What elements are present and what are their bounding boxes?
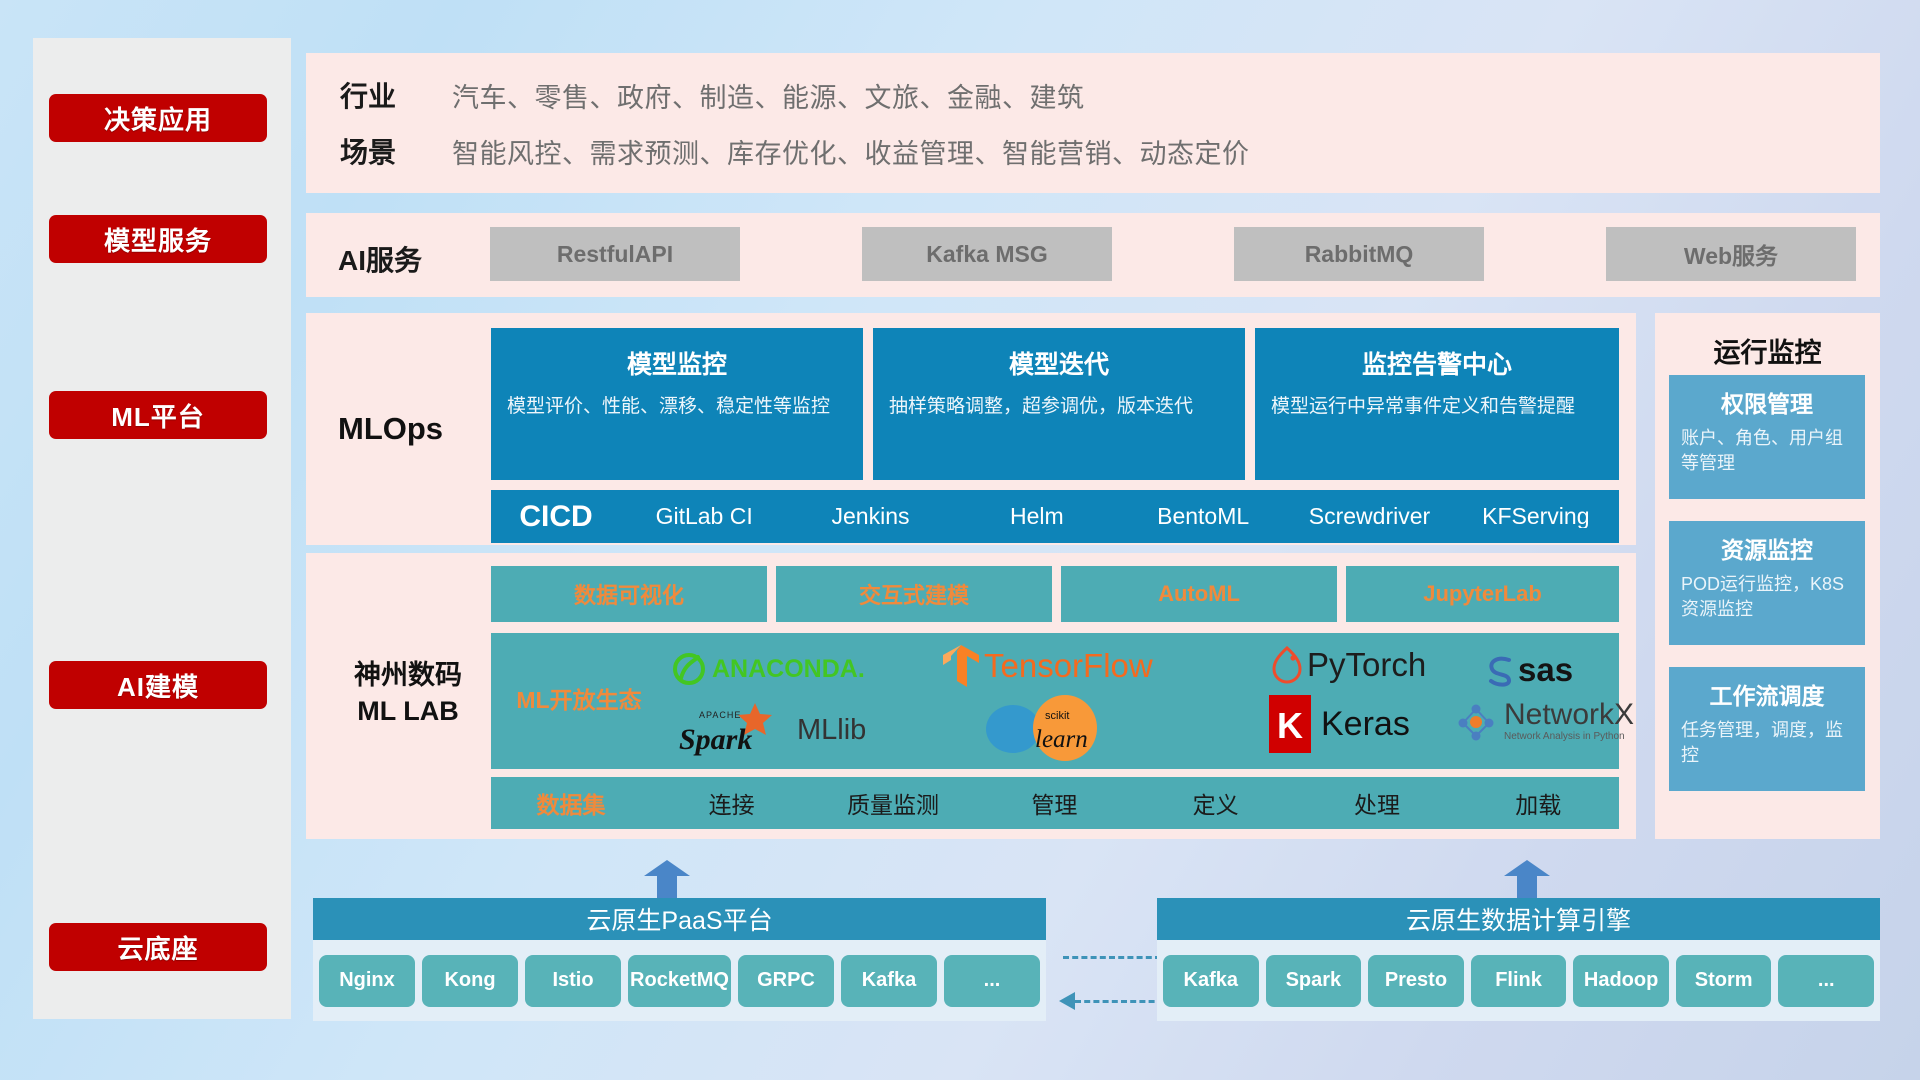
industry-row: 行业 汽车、零售、政府、制造、能源、文旅、金融、建筑 bbox=[340, 75, 1085, 115]
card-desc: 任务管理，调度，监控 bbox=[1681, 718, 1853, 768]
tool-chip-jupyterlab[interactable]: JupyterLab bbox=[1346, 566, 1619, 622]
paas-chip-istio[interactable]: Istio bbox=[525, 955, 621, 1007]
data-engine-title: 云原生数据计算引擎 bbox=[1157, 898, 1880, 940]
scenario-key: 场景 bbox=[340, 131, 452, 171]
svg-text:Spark: Spark bbox=[679, 723, 752, 756]
engine-chip-spark[interactable]: Spark bbox=[1266, 955, 1362, 1007]
logo-text: PyTorch bbox=[1307, 646, 1426, 684]
ml-ecosystem-label: ML开放生态 bbox=[505, 681, 653, 715]
cicd-label: CICD bbox=[491, 500, 621, 534]
monitoring-title: 运行监控 bbox=[1655, 313, 1880, 370]
chip-label: 数据可视化 bbox=[574, 578, 684, 610]
dataset-item-definition[interactable]: 定义 bbox=[1135, 786, 1296, 820]
svg-text:K: K bbox=[1277, 705, 1303, 746]
tensorflow-icon bbox=[941, 643, 981, 689]
card-title: 模型迭代 bbox=[873, 345, 1245, 381]
tool-chip-data-visualization[interactable]: 数据可视化 bbox=[491, 566, 767, 622]
connector-right-line bbox=[1063, 956, 1161, 959]
chip-label: Kafka MSG bbox=[926, 241, 1047, 268]
card-title: 模型监控 bbox=[491, 345, 863, 381]
card-title: 权限管理 bbox=[1669, 375, 1865, 419]
cicd-item-bentoml[interactable]: BentoML bbox=[1120, 505, 1286, 528]
logo-text: NetworkX bbox=[1504, 700, 1634, 730]
svg-text:APACHE: APACHE bbox=[699, 710, 741, 720]
chip-label: Web服务 bbox=[1684, 237, 1778, 271]
mlops-key: MLOps bbox=[338, 411, 443, 447]
monitoring-card-workflow[interactable]: 工作流调度 任务管理，调度，监控 bbox=[1669, 667, 1865, 791]
tool-chip-automl[interactable]: AutoML bbox=[1061, 566, 1337, 622]
sas-icon bbox=[1483, 653, 1517, 687]
anaconda-icon bbox=[671, 651, 707, 687]
ai-modeling-panel: 神州数码 ML LAB 数据可视化 交互式建模 AutoML JupyterLa… bbox=[306, 553, 1636, 839]
runtime-monitoring-panel: 运行监控 权限管理 账户、角色、用户组等管理 资源监控 POD运行监控，K8S资… bbox=[1655, 313, 1880, 839]
svg-text:scikit: scikit bbox=[1045, 710, 1069, 722]
logo-text: ANACONDA. bbox=[712, 655, 865, 684]
ml-lab-line1: 神州数码 bbox=[328, 657, 488, 693]
scenario-value: 智能风控、需求预测、库存优化、收益管理、智能营销、动态定价 bbox=[452, 132, 1250, 171]
card-desc: 模型评价、性能、漂移、稳定性等监控 bbox=[507, 393, 847, 421]
ai-service-chip-kafka-msg[interactable]: Kafka MSG bbox=[862, 227, 1112, 281]
chip-label: JupyterLab bbox=[1423, 581, 1542, 607]
paas-chip-more[interactable]: ... bbox=[944, 955, 1040, 1007]
engine-chip-storm[interactable]: Storm bbox=[1676, 955, 1772, 1007]
dataset-strip: 数据集 连接 质量监测 管理 定义 处理 加载 bbox=[491, 777, 1619, 829]
logo-text: sas bbox=[1518, 651, 1573, 689]
engine-chip-presto[interactable]: Presto bbox=[1368, 955, 1464, 1007]
cicd-item-helm[interactable]: Helm bbox=[954, 505, 1120, 528]
chip-label: 交互式建模 bbox=[859, 578, 969, 610]
scenario-row: 场景 智能风控、需求预测、库存优化、收益管理、智能营销、动态定价 bbox=[340, 131, 1250, 171]
dataset-item-connect[interactable]: 连接 bbox=[651, 786, 812, 820]
dataset-item-processing[interactable]: 处理 bbox=[1296, 786, 1457, 820]
layer-chip-label: ML平台 bbox=[111, 397, 205, 434]
ml-lab-key: 神州数码 ML LAB bbox=[328, 657, 488, 730]
networkx-icon bbox=[1453, 699, 1499, 745]
layer-chip-label: AI建模 bbox=[117, 667, 199, 704]
scikit-learn-icon: scikit learn bbox=[983, 695, 1133, 761]
svg-text:learn: learn bbox=[1035, 726, 1088, 753]
industry-value: 汽车、零售、政府、制造、能源、文旅、金融、建筑 bbox=[452, 76, 1085, 115]
paas-chip-row: Nginx Kong Istio RocketMQ GRPC Kafka ... bbox=[313, 940, 1046, 1021]
ai-service-chip-web-service[interactable]: Web服务 bbox=[1606, 227, 1856, 281]
cicd-item-screwdriver[interactable]: Screwdriver bbox=[1286, 505, 1452, 528]
layer-chip-label: 模型服务 bbox=[104, 221, 212, 258]
ml-ecosystem-box: ML开放生态 ANACONDA. TensorFlow bbox=[491, 633, 1619, 769]
paas-chip-kafka[interactable]: Kafka bbox=[841, 955, 937, 1007]
dataset-item-management[interactable]: 管理 bbox=[974, 786, 1135, 820]
paas-chip-grpc[interactable]: GRPC bbox=[738, 955, 834, 1007]
diagram-canvas: 决策应用 模型服务 ML平台 AI建模 云底座 行业 汽车、零售、政府、制造、能… bbox=[0, 0, 1920, 1080]
logo-text: Keras bbox=[1321, 705, 1410, 744]
paas-chip-nginx[interactable]: Nginx bbox=[319, 955, 415, 1007]
dataset-item-quality[interactable]: 质量监测 bbox=[812, 786, 973, 820]
layer-rail bbox=[33, 38, 291, 1019]
industry-key: 行业 bbox=[340, 75, 452, 115]
mlops-card-alert-center[interactable]: 监控告警中心 模型运行中异常事件定义和告警提醒 bbox=[1255, 328, 1619, 480]
anaconda-logo[interactable]: ANACONDA. bbox=[671, 651, 865, 687]
tool-chip-interactive-modeling[interactable]: 交互式建模 bbox=[776, 566, 1052, 622]
monitoring-card-permission[interactable]: 权限管理 账户、角色、用户组等管理 bbox=[1669, 375, 1865, 499]
sas-logo[interactable]: sas bbox=[1483, 651, 1573, 689]
data-engine-chip-row: Kafka Spark Presto Flink Hadoop Storm ..… bbox=[1157, 940, 1880, 1021]
pytorch-icon bbox=[1271, 645, 1303, 685]
card-desc: 模型运行中异常事件定义和告警提醒 bbox=[1271, 393, 1603, 421]
paas-platform-block: 云原生PaaS平台 Nginx Kong Istio RocketMQ GRPC… bbox=[313, 898, 1046, 1021]
ecosystem-logo-grid: ANACONDA. TensorFlow PyTorch bbox=[663, 637, 1613, 765]
engine-chip-hadoop[interactable]: Hadoop bbox=[1573, 955, 1669, 1007]
engine-chip-kafka[interactable]: Kafka bbox=[1163, 955, 1259, 1007]
chip-label: RabbitMQ bbox=[1305, 241, 1414, 268]
arrow-up-data-engine bbox=[1504, 860, 1550, 900]
monitoring-card-resource[interactable]: 资源监控 POD运行监控，K8S资源监控 bbox=[1669, 521, 1865, 645]
layer-chip-model-service[interactable]: 模型服务 bbox=[49, 215, 267, 263]
arrow-up-paas bbox=[644, 860, 690, 900]
layer-chip-decision-app[interactable]: 决策应用 bbox=[49, 94, 267, 142]
mlops-card-model-monitoring[interactable]: 模型监控 模型评价、性能、漂移、稳定性等监控 bbox=[491, 328, 863, 480]
spark-icon: APACHE Spark bbox=[675, 703, 791, 757]
layer-chip-label: 云底座 bbox=[117, 929, 198, 966]
dataset-item-loading[interactable]: 加载 bbox=[1458, 786, 1619, 820]
pytorch-logo[interactable]: PyTorch bbox=[1271, 645, 1426, 685]
chip-label: RestfulAPI bbox=[557, 241, 673, 268]
paas-chip-rocketmq[interactable]: RocketMQ bbox=[628, 955, 731, 1007]
ai-service-chip-restfulapi[interactable]: RestfulAPI bbox=[490, 227, 740, 281]
paas-chip-kong[interactable]: Kong bbox=[422, 955, 518, 1007]
engine-chip-more[interactable]: ... bbox=[1778, 955, 1874, 1007]
layer-chip-cloud-base[interactable]: 云底座 bbox=[49, 923, 267, 971]
ai-service-key: AI服务 bbox=[338, 239, 450, 279]
layer-chip-ml-platform[interactable]: ML平台 bbox=[49, 391, 267, 439]
dataset-label: 数据集 bbox=[491, 786, 651, 820]
mlops-card-model-iteration[interactable]: 模型迭代 抽样策略调整，超参调优，版本迭代 bbox=[873, 328, 1245, 480]
ai-service-panel: AI服务 RestfulAPI Kafka MSG RabbitMQ Web服务 bbox=[306, 213, 1880, 297]
keras-logo[interactable]: K Keras bbox=[1267, 693, 1410, 755]
scikit-learn-logo[interactable]: scikit learn bbox=[983, 695, 1133, 761]
cicd-strip: CICD GitLab CI Jenkins Helm BentoML Scre… bbox=[491, 490, 1619, 543]
spark-mllib-logo[interactable]: APACHE Spark MLlib bbox=[675, 703, 866, 757]
applications-panel: 行业 汽车、零售、政府、制造、能源、文旅、金融、建筑 场景 智能风控、需求预测、… bbox=[306, 53, 1880, 193]
cicd-item-gitlab-ci[interactable]: GitLab CI bbox=[621, 505, 787, 528]
layer-chip-label: 决策应用 bbox=[104, 100, 212, 137]
cicd-item-kfserving[interactable]: KFServing bbox=[1453, 505, 1619, 528]
networkx-logo[interactable]: NetworkX Network Analysis in Python bbox=[1453, 699, 1634, 745]
layer-chip-ai-modeling[interactable]: AI建模 bbox=[49, 661, 267, 709]
ml-lab-line2: ML LAB bbox=[328, 693, 488, 729]
card-desc: POD运行监控，K8S资源监控 bbox=[1681, 572, 1853, 622]
data-engine-block: 云原生数据计算引擎 Kafka Spark Presto Flink Hadoo… bbox=[1157, 898, 1880, 1021]
card-title: 工作流调度 bbox=[1669, 667, 1865, 711]
paas-title: 云原生PaaS平台 bbox=[313, 898, 1046, 940]
chip-label: AutoML bbox=[1158, 581, 1240, 607]
keras-icon: K bbox=[1267, 693, 1313, 755]
ai-service-chip-rabbitmq[interactable]: RabbitMQ bbox=[1234, 227, 1484, 281]
connector-left-arrowhead bbox=[1059, 992, 1075, 1010]
mlops-panel: MLOps 模型监控 模型评价、性能、漂移、稳定性等监控 模型迭代 抽样策略调整… bbox=[306, 313, 1636, 545]
networkx-wordmark: NetworkX Network Analysis in Python bbox=[1504, 700, 1634, 744]
tensorflow-logo[interactable]: TensorFlow bbox=[941, 643, 1153, 689]
cicd-item-jenkins[interactable]: Jenkins bbox=[787, 505, 953, 528]
card-desc: 抽样策略调整，超参调优，版本迭代 bbox=[889, 393, 1229, 421]
logo-text: TensorFlow bbox=[984, 647, 1153, 685]
card-title: 资源监控 bbox=[1669, 521, 1865, 565]
engine-chip-flink[interactable]: Flink bbox=[1471, 955, 1567, 1007]
card-desc: 账户、角色、用户组等管理 bbox=[1681, 426, 1853, 476]
card-title: 监控告警中心 bbox=[1255, 345, 1619, 381]
